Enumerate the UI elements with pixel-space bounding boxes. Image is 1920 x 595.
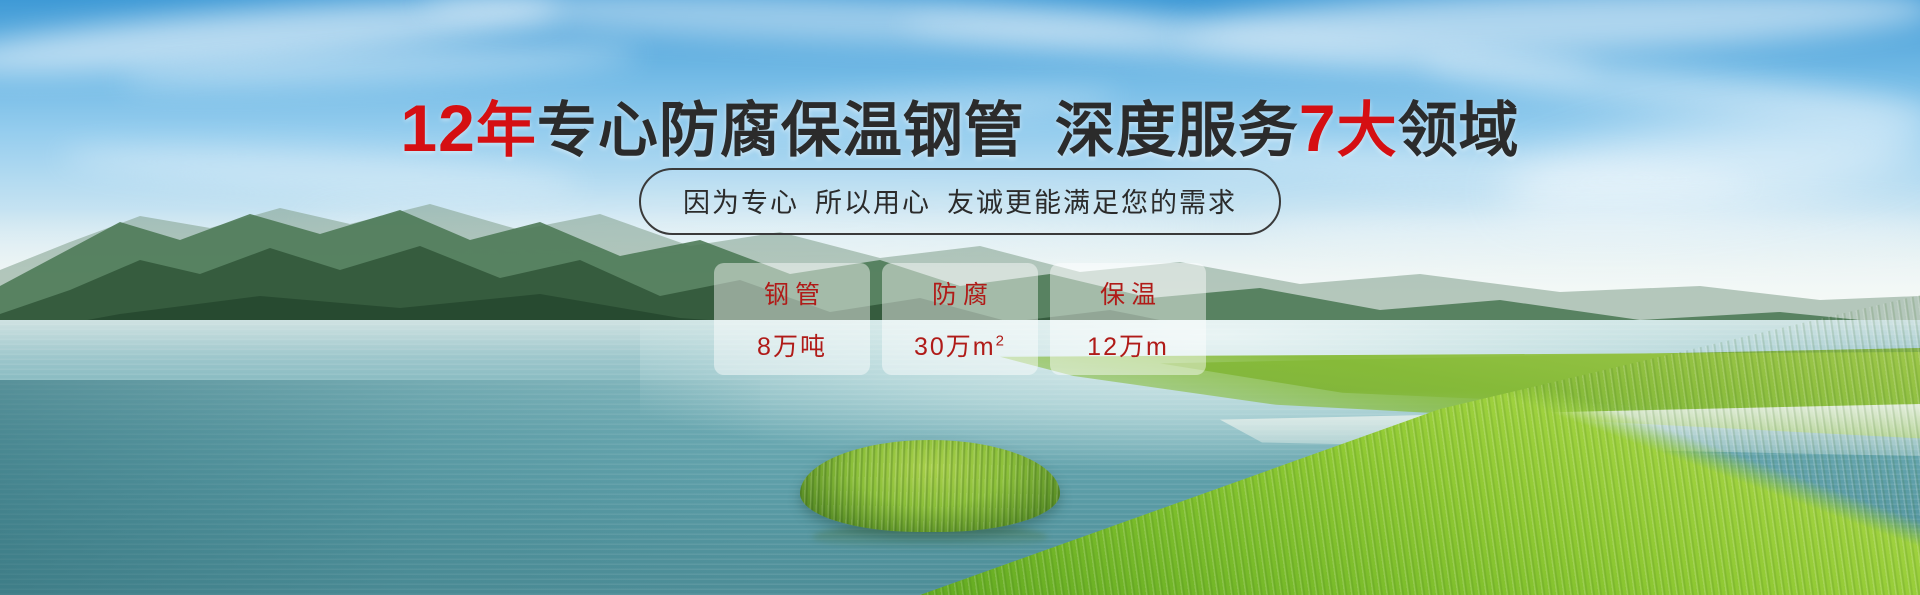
stat-card-value-text: 8万吨 <box>757 333 827 361</box>
stat-card-list: 钢管 8万吨 防腐 30万m2 保温 12万m <box>0 263 1920 375</box>
subtitle-pill: 因为专心所以用心友诚更能满足您的需求 <box>639 168 1281 235</box>
headline-fields-unit: 大 <box>1337 97 1398 164</box>
stat-card-title: 保温 <box>1094 275 1162 311</box>
headline-fields-number: 7 <box>1299 91 1337 165</box>
stat-card-insulation[interactable]: 保温 12万m <box>1050 263 1206 375</box>
water-shadow-left <box>0 380 760 595</box>
stat-card-title: 钢管 <box>758 275 826 311</box>
headline-second-text: 深度服务 <box>1055 97 1299 164</box>
hero-banner: 12年专心防腐保温钢管深度服务7大领域 因为专心所以用心友诚更能满足您的需求 钢… <box>0 0 1920 595</box>
stat-card-steel-pipe[interactable]: 钢管 8万吨 <box>714 263 870 375</box>
stat-card-value: 8万吨 <box>757 327 827 363</box>
headline-fields-text: 领域 <box>1398 97 1520 164</box>
page-title: 12年专心防腐保温钢管深度服务7大领域 <box>0 82 1920 169</box>
headline-years-unit: 年 <box>476 97 537 164</box>
stat-card-value-text: 30万m <box>914 333 996 361</box>
stat-card-value-text: 12万m <box>1087 333 1169 361</box>
headline-years-number: 12 <box>400 91 475 165</box>
headline-main-text: 专心防腐保温钢管 <box>537 97 1025 164</box>
subtitle-part-3: 友诚更能满足您的需求 <box>947 188 1237 218</box>
subtitle-container: 因为专心所以用心友诚更能满足您的需求 <box>0 168 1920 235</box>
subtitle-part-2: 所以用心 <box>815 188 931 218</box>
stat-card-value-superscript: 2 <box>996 333 1006 350</box>
subtitle-part-1: 因为专心 <box>683 188 799 218</box>
stat-card-value: 30万m2 <box>914 327 1006 363</box>
stat-card-anticorrosion[interactable]: 防腐 30万m2 <box>882 263 1038 375</box>
stat-card-title: 防腐 <box>926 275 994 311</box>
stat-card-value: 12万m <box>1087 327 1169 363</box>
